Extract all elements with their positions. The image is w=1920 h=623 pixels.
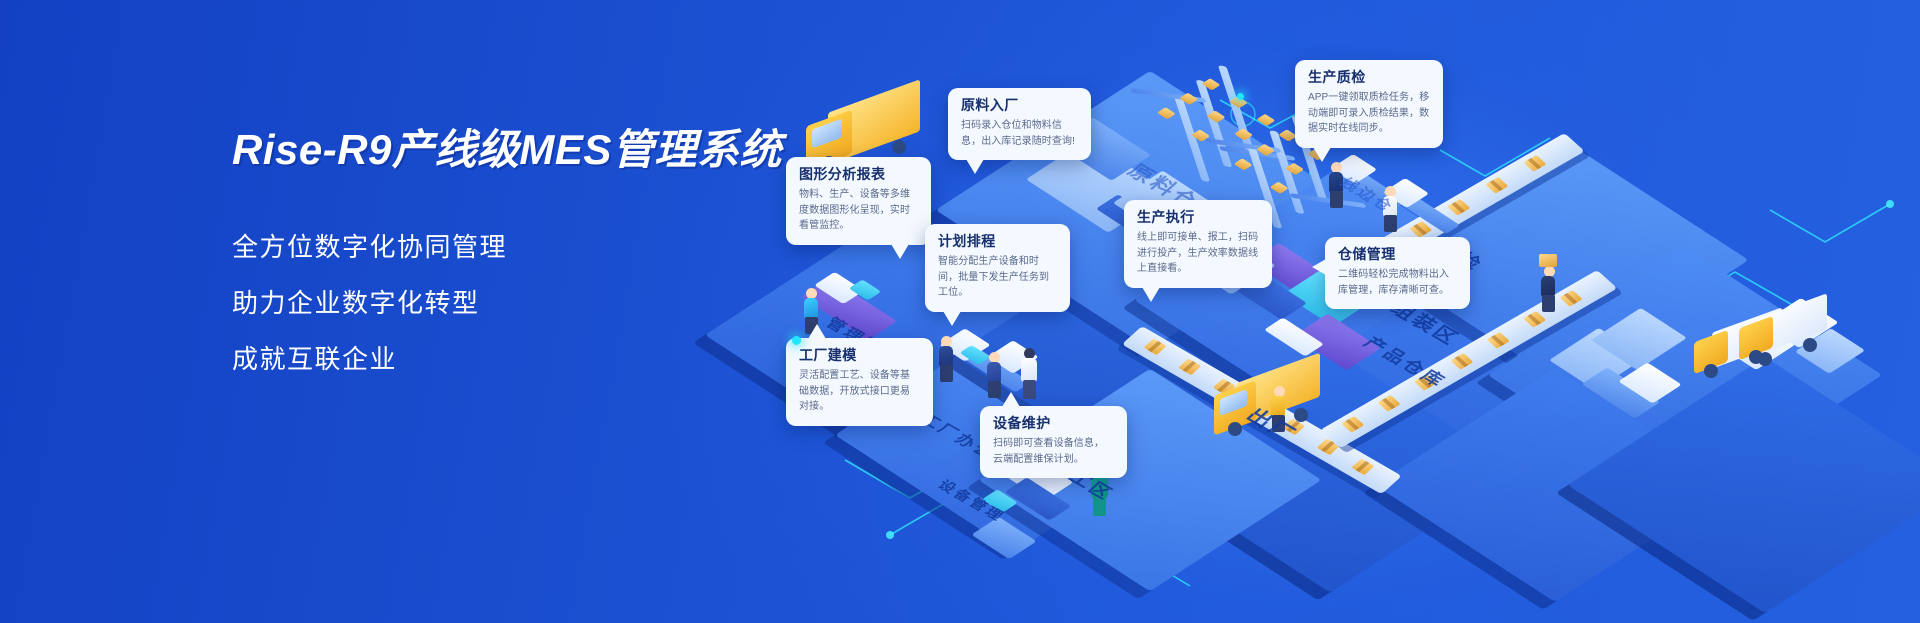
card-title: 设备维护	[993, 416, 1114, 431]
card-description: 灵活配置工艺、设备等基础数据，开放式接口更易对接。	[799, 368, 920, 415]
callout-tail-icon	[1142, 287, 1160, 302]
card-title: 计划排程	[938, 234, 1057, 249]
title-rest: 产线级MES管理系统	[392, 126, 782, 173]
callout-tail-icon	[943, 311, 961, 326]
accent-dot-2	[1237, 93, 1244, 100]
subtitle-line-3: 成就互联企业	[232, 346, 792, 372]
subtitle-line-2: 助力企业数字化转型	[232, 290, 792, 316]
title-brand: Rise-R9	[232, 126, 392, 173]
card-title: 仓储管理	[1338, 247, 1457, 262]
mes-hero-banner: Rise-R9产线级MES管理系统 全方位数字化协同管理 助力企业数字化转型 成…	[0, 0, 1920, 623]
card-production-execution[interactable]: 生产执行 线上即可接单、报工，扫码进行投产，生产效率数据线上直接看。	[1124, 200, 1272, 288]
card-planning-scheduling[interactable]: 计划排程 智能分配生产设备和时间，批量下发生产任务到工位。	[925, 224, 1070, 312]
card-description: 智能分配生产设备和时间，批量下发生产任务到工位。	[938, 254, 1057, 301]
accent-dot-1	[792, 336, 801, 345]
callout-tail-icon	[1002, 392, 1020, 407]
callout-tail-icon	[891, 244, 909, 259]
card-title: 工厂建模	[799, 348, 920, 363]
card-warehouse-management[interactable]: 仓储管理 二维码轻松完成物料出入库管理，库存清晰可查。	[1325, 237, 1470, 309]
card-production-quality-inspection[interactable]: 生产质检 APP一键领取质检任务，移动端即可录入质检结果，数据实时在线同步。	[1295, 60, 1443, 148]
callout-tail-icon	[966, 159, 984, 174]
subtitle-line-1: 全方位数字化协同管理	[232, 234, 792, 260]
card-description: 线上即可接单、报工，扫码进行投产，生产效率数据线上直接看。	[1137, 230, 1259, 277]
callout-tail-icon	[1312, 259, 1326, 275]
card-description: 扫码即可查看设备信息，云端配置维保计划。	[993, 436, 1114, 467]
card-title: 原料入厂	[961, 98, 1078, 113]
card-description: APP一键领取质检任务，移动端即可录入质检结果，数据实时在线同步。	[1308, 90, 1430, 137]
card-equipment-maintenance[interactable]: 设备维护 扫码即可查看设备信息，云端配置维保计划。	[980, 406, 1127, 478]
card-title: 生产质检	[1308, 70, 1430, 85]
page-title: Rise-R9产线级MES管理系统	[232, 128, 792, 172]
card-title: 图形分析报表	[799, 167, 918, 182]
callout-tail-icon	[1313, 147, 1331, 162]
card-description: 二维码轻松完成物料出入库管理，库存清晰可查。	[1338, 267, 1457, 298]
card-description: 扫码录入仓位和物料信息，出入库记录随时查询!	[961, 118, 1078, 149]
card-raw-material-inbound[interactable]: 原料入厂 扫码录入仓位和物料信息，出入库记录随时查询!	[948, 88, 1091, 160]
card-factory-modeling[interactable]: 工厂建模 灵活配置工艺、设备等基础数据，开放式接口更易对接。	[786, 338, 933, 426]
card-description: 物料、生产、设备等多维度数据图形化呈现，实时看管监控。	[799, 187, 918, 234]
callout-tail-icon	[808, 324, 826, 339]
card-title: 生产执行	[1137, 210, 1259, 225]
card-graph-analysis-report[interactable]: 图形分析报表 物料、生产、设备等多维度数据图形化呈现，实时看管监控。	[786, 157, 931, 245]
